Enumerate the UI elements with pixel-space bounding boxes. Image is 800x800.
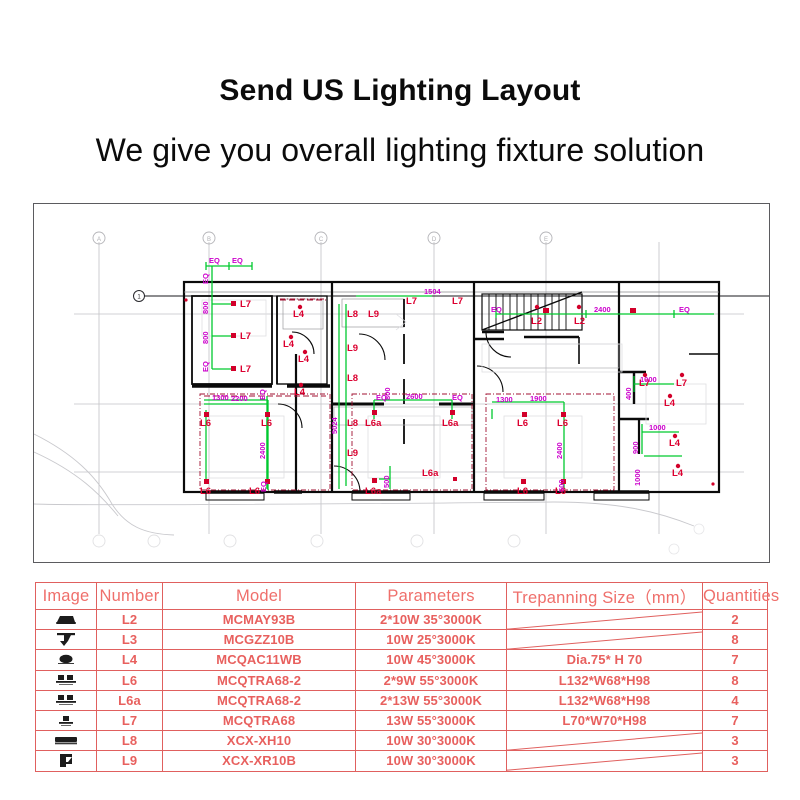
table-row: L6 MCQTRA68-2 2*9W 55°3000K L132*W68*H98…	[36, 670, 768, 690]
fixture-icon-cell	[36, 630, 97, 650]
fixture-icon-cell	[36, 690, 97, 710]
svg-text:EQ: EQ	[201, 273, 210, 284]
svg-text:400: 400	[624, 387, 633, 400]
cell-trepanning	[507, 731, 703, 751]
cell-quantities: 8	[703, 670, 768, 690]
cell-number: L7	[97, 710, 163, 730]
dimension-labels: EQ EQ 1504 EQ 2400 EQ 1300 2200 EQ 2600 …	[201, 256, 690, 492]
svg-text:L6: L6	[200, 418, 211, 429]
empty-diagonal-icon	[507, 610, 702, 629]
svg-text:500: 500	[382, 475, 391, 488]
table-row: L8 XCX-XH10 10W 30°3000K 3	[36, 731, 768, 751]
fixture-icon-cell	[36, 670, 97, 690]
cell-trepanning: Dia.75* H 70	[507, 650, 703, 670]
svg-text:L7: L7	[676, 378, 687, 389]
cell-model: MCQTRA68-2	[163, 670, 356, 690]
fixture-icon-cell	[36, 710, 97, 730]
grid-bubbles-bottom	[93, 524, 704, 554]
cell-number: L6	[97, 670, 163, 690]
cell-parameters: 2*13W 55°3000K	[356, 690, 507, 710]
fixture-spec-table: Image Number Model Parameters Trepanning…	[35, 582, 768, 772]
header-trepanning: Trepanning Size（mm）	[507, 583, 703, 610]
svg-text:EQ: EQ	[452, 393, 463, 402]
table-row: L2 MCMAY93B 2*10W 35°3000K 2	[36, 610, 768, 630]
fixture-icon-cell	[36, 731, 97, 751]
svg-text:L6a: L6a	[365, 486, 382, 497]
cell-trepanning: L132*W68*H98	[507, 690, 703, 710]
svg-text:L4: L4	[294, 387, 306, 398]
cell-quantities: 4	[703, 690, 768, 710]
svg-text:800: 800	[383, 387, 392, 400]
table-row: L3 MCGZZ10B 10W 25°3000K 8	[36, 630, 768, 650]
svg-text:1000: 1000	[640, 375, 657, 384]
svg-text:L4: L4	[672, 468, 684, 479]
svg-text:L7: L7	[240, 331, 251, 342]
cell-quantities: 8	[703, 630, 768, 650]
svg-text:EQ: EQ	[491, 305, 502, 314]
svg-text:EQ: EQ	[209, 256, 220, 265]
svg-text:1900: 1900	[530, 394, 547, 403]
svg-text:L6: L6	[517, 418, 528, 429]
header-image: Image	[36, 583, 97, 610]
svg-text:L6a: L6a	[365, 418, 382, 429]
svg-text:900: 900	[631, 441, 640, 454]
round-downlight-icon	[56, 653, 76, 666]
grid-bubbles-top: A B C D E	[93, 232, 552, 244]
svg-text:800: 800	[201, 331, 210, 344]
cell-number: L8	[97, 731, 163, 751]
svg-text:EQ: EQ	[232, 256, 243, 265]
cell-quantities: 3	[703, 751, 768, 771]
svg-text:L4: L4	[669, 438, 681, 449]
cell-model: XCX-XR10B	[163, 751, 356, 771]
svg-text:L4: L4	[283, 339, 295, 350]
header-number: Number	[97, 583, 163, 610]
svg-text:L6: L6	[517, 486, 528, 497]
cell-parameters: 10W 30°3000K	[356, 751, 507, 771]
page-title: Send US Lighting Layout	[0, 74, 800, 108]
svg-text:EQ: EQ	[679, 305, 690, 314]
svg-text:EQ: EQ	[258, 389, 267, 400]
cell-number: L9	[97, 751, 163, 771]
double-recessed-icon	[54, 673, 78, 687]
svg-text:L4: L4	[293, 309, 305, 320]
cell-quantities: 7	[703, 650, 768, 670]
svg-text:1000: 1000	[633, 469, 642, 486]
fixture-icon-cell	[36, 751, 97, 771]
svg-text:2400: 2400	[594, 305, 611, 314]
svg-text:L6a: L6a	[442, 418, 459, 429]
svg-text:L7: L7	[240, 364, 251, 375]
cell-parameters: 10W 45°3000K	[356, 650, 507, 670]
cell-model: MCGZZ10B	[163, 630, 356, 650]
svg-text:L6: L6	[261, 418, 272, 429]
wall-washer-icon	[56, 753, 76, 768]
svg-text:L4: L4	[664, 398, 676, 409]
cell-quantities: 3	[703, 731, 768, 751]
header-quantities: Quantities	[703, 583, 768, 610]
cell-model: XCX-XH10	[163, 731, 356, 751]
svg-text:1: 1	[137, 295, 141, 301]
page-root: Send US Lighting Layout We give you over…	[0, 0, 800, 800]
svg-text:2600: 2600	[406, 392, 423, 401]
svg-text:2400: 2400	[258, 442, 267, 459]
cell-model: MCQTRA68	[163, 710, 356, 730]
cell-model: MCMAY93B	[163, 610, 356, 630]
header-model: Model	[163, 583, 356, 610]
svg-text:D: D	[432, 237, 437, 243]
cell-trepanning: L70*W70*H98	[507, 710, 703, 730]
fixture-icon-cell	[36, 650, 97, 670]
cell-quantities: 7	[703, 710, 768, 730]
svg-text:L9: L9	[368, 309, 379, 320]
empty-diagonal-icon	[507, 731, 702, 750]
svg-text:1504: 1504	[424, 287, 442, 296]
svg-text:B: B	[207, 237, 211, 243]
cell-parameters: 2*10W 35°3000K	[356, 610, 507, 630]
cell-trepanning	[507, 751, 703, 771]
track-spotlight-icon	[55, 632, 77, 647]
svg-text:2200: 2200	[231, 394, 248, 403]
svg-text:500: 500	[557, 479, 566, 492]
linear-wash-icon	[53, 735, 79, 746]
cell-parameters: 2*9W 55°3000K	[356, 670, 507, 690]
table-row: L9 XCX-XR10B 10W 30°3000K 3	[36, 751, 768, 771]
empty-diagonal-icon	[507, 630, 702, 649]
cell-parameters: 10W 25°3000K	[356, 630, 507, 650]
cell-trepanning	[507, 630, 703, 650]
svg-text:L7: L7	[452, 296, 463, 307]
svg-text:L9: L9	[347, 448, 358, 459]
svg-text:5024: 5024	[330, 416, 339, 434]
svg-text:L8: L8	[347, 373, 358, 384]
fixture-icon-cell	[36, 610, 97, 630]
header-parameters: Parameters	[356, 583, 507, 610]
cell-number: L3	[97, 630, 163, 650]
svg-text:800: 800	[201, 301, 210, 314]
cell-number: L2	[97, 610, 163, 630]
table-header-row: Image Number Model Parameters Trepanning…	[36, 583, 768, 610]
cell-quantities: 2	[703, 610, 768, 630]
cell-number: L4	[97, 650, 163, 670]
surface-spotlight-icon	[54, 613, 78, 626]
svg-text:L6a: L6a	[422, 468, 439, 479]
svg-text:L7: L7	[240, 299, 251, 310]
svg-text:1300: 1300	[212, 393, 229, 402]
site-curves	[34, 434, 694, 535]
svg-text:1000: 1000	[649, 423, 666, 432]
floorplan-drawing: A B C D E	[34, 204, 770, 563]
svg-text:L6: L6	[557, 418, 568, 429]
svg-text:EQ: EQ	[201, 361, 210, 372]
svg-text:L2: L2	[531, 316, 542, 327]
svg-text:E: E	[544, 237, 548, 243]
table-row: L7 MCQTRA68 13W 55°3000K L70*W70*H98 7	[36, 710, 768, 730]
table-row: L4 MCQAC11WB 10W 45°3000K Dia.75* H 70 7	[36, 650, 768, 670]
svg-text:L9: L9	[347, 343, 358, 354]
svg-text:L6: L6	[200, 486, 211, 497]
cell-model: MCQAC11WB	[163, 650, 356, 670]
cell-parameters: 13W 55°3000K	[356, 710, 507, 730]
svg-text:L8: L8	[347, 309, 358, 320]
svg-text:A: A	[97, 237, 101, 243]
cell-parameters: 10W 30°3000K	[356, 731, 507, 751]
single-recessed-icon	[57, 714, 75, 728]
page-subtitle: We give you overall lighting fixture sol…	[0, 132, 800, 169]
svg-text:2400: 2400	[555, 442, 564, 459]
svg-text:L2: L2	[574, 316, 585, 327]
cell-model: MCQTRA68-2	[163, 690, 356, 710]
table-row: L6a MCQTRA68-2 2*13W 55°3000K L132*W68*H…	[36, 690, 768, 710]
cell-number: L6a	[97, 690, 163, 710]
svg-text:L7: L7	[406, 296, 417, 307]
cell-trepanning	[507, 610, 703, 630]
double-recessed-icon	[54, 693, 78, 707]
cell-trepanning: L132*W68*H98	[507, 670, 703, 690]
svg-text:C: C	[319, 237, 324, 243]
svg-text:L4: L4	[298, 354, 310, 365]
svg-text:1300: 1300	[496, 395, 513, 404]
floorplan-frame: A B C D E	[33, 203, 770, 563]
svg-text:L8: L8	[347, 418, 358, 429]
empty-diagonal-icon	[507, 751, 702, 770]
svg-text:EQ: EQ	[259, 481, 268, 492]
